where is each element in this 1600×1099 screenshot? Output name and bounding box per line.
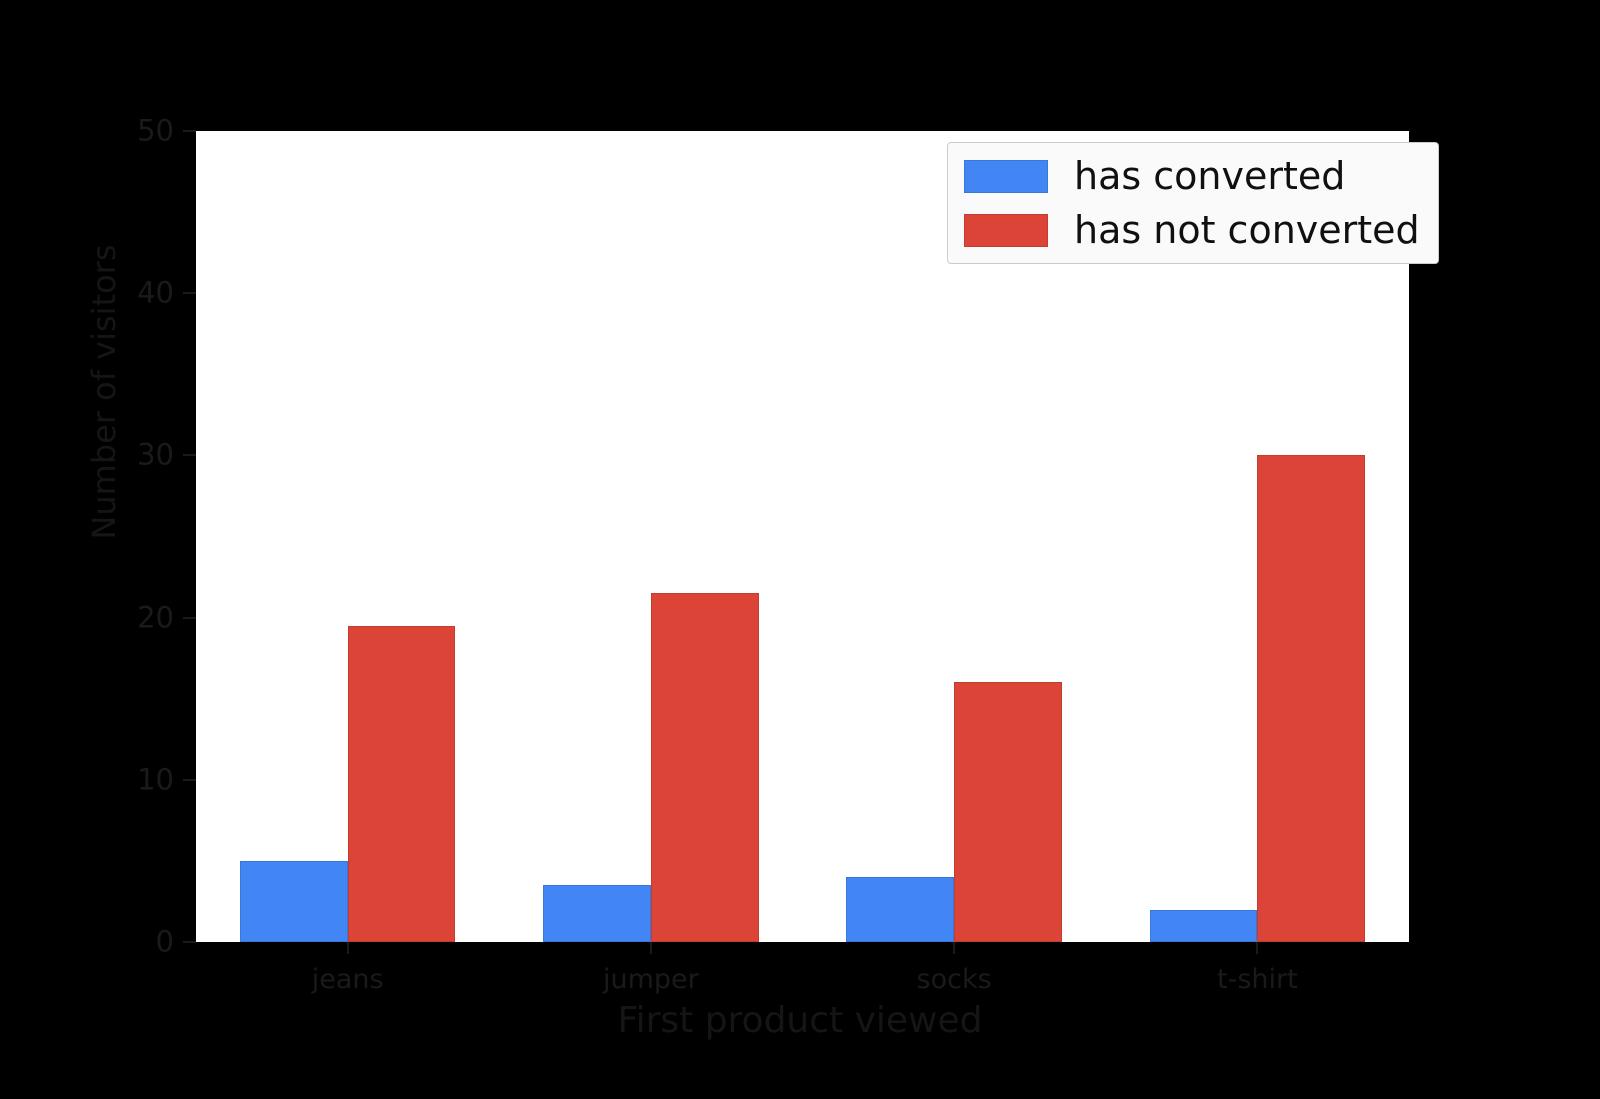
x-tick-label: socks (917, 966, 992, 993)
y-tick-label: 50 (104, 117, 174, 146)
x-tick-label: jumper (603, 966, 699, 993)
bar (348, 626, 456, 942)
legend-color-swatch (964, 160, 1048, 193)
legend-label: has converted (1074, 157, 1345, 195)
legend-color-swatch (964, 214, 1048, 247)
x-tick-mark (953, 942, 955, 954)
figure-canvas: 01020304050 jeansjumpersockst-shirt Firs… (0, 0, 1600, 1099)
legend-item[interactable]: has not converted (964, 211, 1420, 249)
bar (1257, 455, 1365, 942)
legend-item[interactable]: has converted (964, 157, 1420, 195)
y-tick-mark (183, 941, 196, 943)
bar (846, 877, 954, 942)
x-tick-mark (650, 942, 652, 954)
x-tick-label: jeans (312, 966, 384, 993)
bar (651, 593, 759, 942)
x-axis-title: First product viewed (0, 1000, 1600, 1041)
y-tick-mark (183, 292, 196, 294)
y-axis-title: Number of visitors (85, 227, 123, 557)
bar (954, 682, 1062, 942)
legend[interactable]: has convertedhas not converted (947, 142, 1439, 264)
legend-label: has not converted (1074, 211, 1420, 249)
bar (240, 861, 348, 942)
y-tick-mark (183, 779, 196, 781)
x-tick-mark (347, 942, 349, 954)
x-tick-label: t-shirt (1217, 966, 1298, 993)
y-tick-label: 20 (104, 603, 174, 632)
y-tick-label: 10 (104, 765, 174, 794)
y-tick-mark (183, 130, 196, 132)
y-tick-mark (183, 454, 196, 456)
bar (1150, 910, 1258, 942)
bar (543, 885, 651, 942)
y-tick-label: 0 (104, 928, 174, 957)
y-tick-mark (183, 617, 196, 619)
x-tick-mark (1256, 942, 1258, 954)
